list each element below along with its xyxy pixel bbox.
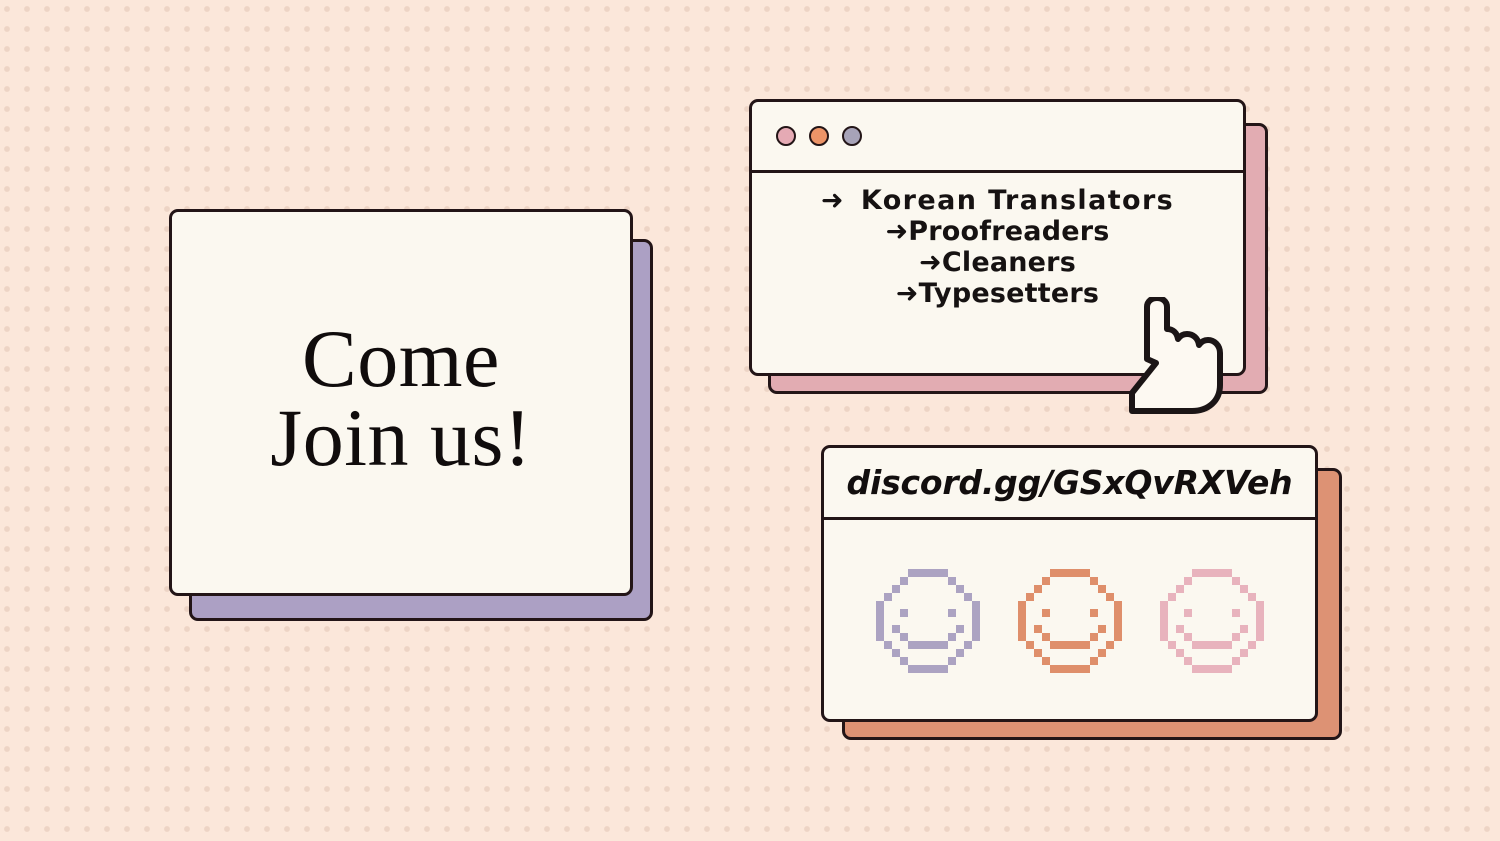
- role-item-proofreaders[interactable]: ➜Proofreaders: [752, 216, 1243, 247]
- join-panel-card: Come Join us!: [169, 209, 633, 596]
- role-item-cleaners[interactable]: ➜Cleaners: [752, 247, 1243, 278]
- smiley-face-orange-icon: [1018, 569, 1122, 673]
- join-heading-line-1: Come: [270, 320, 531, 399]
- role-label: Korean Translators: [861, 185, 1174, 216]
- smiley-face-purple-icon: [876, 569, 980, 673]
- arrow-icon: ➜: [821, 185, 845, 216]
- arrow-icon: ➜: [885, 216, 908, 247]
- maximize-dot-icon[interactable]: [842, 126, 862, 146]
- arrow-icon: ➜: [896, 278, 919, 309]
- smiley-face-pink-icon: [1160, 569, 1264, 673]
- role-label: Typesetters: [919, 278, 1100, 309]
- join-panel-heading: Come Join us!: [270, 320, 531, 485]
- role-label: Proofreaders: [908, 216, 1109, 247]
- role-item-korean-translators[interactable]: ➜Korean Translators: [752, 185, 1243, 216]
- join-heading-line-2: Join us!: [270, 399, 531, 478]
- close-dot-icon[interactable]: [776, 126, 796, 146]
- discord-window-titlebar: discord.gg/GSxQvRXVeh: [824, 448, 1315, 520]
- minimize-dot-icon[interactable]: [809, 126, 829, 146]
- poster-canvas: Come Join us! ➜Korean Translators ➜Proof…: [0, 0, 1500, 841]
- pointing-hand-cursor-icon: [1128, 297, 1228, 415]
- arrow-icon: ➜: [919, 247, 942, 278]
- discord-window: discord.gg/GSxQvRXVeh: [821, 445, 1318, 722]
- smiley-row: [824, 520, 1315, 722]
- discord-invite-link[interactable]: discord.gg/GSxQvRXVeh: [847, 463, 1293, 502]
- role-label: Cleaners: [942, 247, 1076, 278]
- roles-list: ➜Korean Translators ➜Proofreaders ➜Clean…: [752, 173, 1243, 309]
- roles-window-titlebar: [752, 102, 1243, 173]
